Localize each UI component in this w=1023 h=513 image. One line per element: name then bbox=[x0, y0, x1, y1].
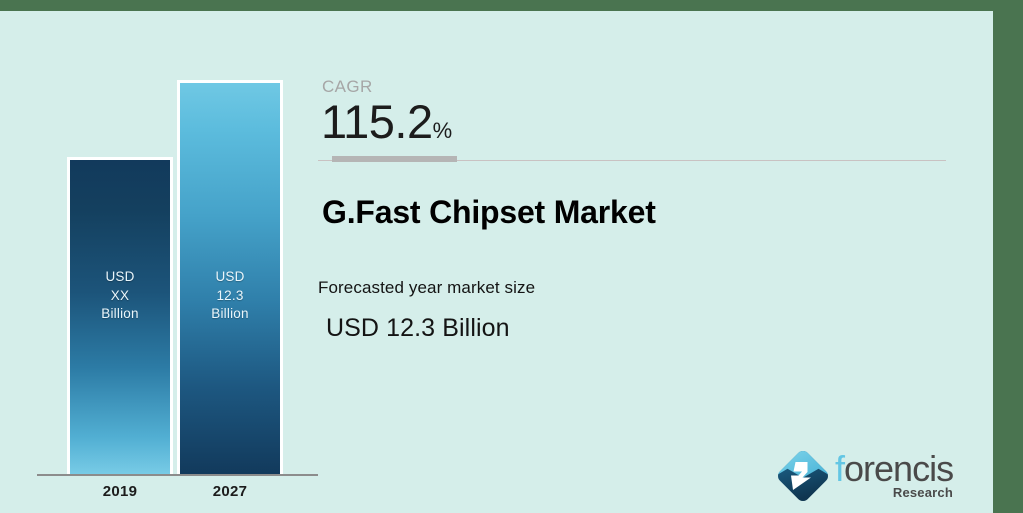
forencis-diamond-icon bbox=[777, 450, 829, 502]
x-axis-tick-2019: 2019 bbox=[67, 483, 173, 500]
x-axis-tick-2027: 2027 bbox=[177, 483, 283, 500]
section-divider bbox=[318, 155, 946, 163]
cagr-label: CAGR bbox=[322, 77, 373, 97]
logo-word: forencis bbox=[835, 451, 953, 487]
logo-subtitle: Research bbox=[835, 485, 953, 500]
bar-2019: USD XX Billion bbox=[67, 157, 173, 474]
cagr-percent-sign: % bbox=[433, 118, 453, 143]
bar-2019-label-line3: Billion bbox=[70, 305, 170, 324]
page-title: G.Fast Chipset Market bbox=[322, 194, 656, 231]
bar-2019-label-line1: USD bbox=[70, 268, 170, 287]
bar-2027-label-line3: Billion bbox=[180, 305, 280, 324]
bar-2019-value-label: USD XX Billion bbox=[70, 268, 170, 324]
bar-chart: USD XX Billion USD 12.3 Billion 2019 202… bbox=[0, 11, 320, 513]
cagr-number: 115.2 bbox=[321, 95, 433, 148]
forecast-value: USD 12.3 Billion bbox=[326, 314, 510, 343]
bar-2027-label-line1: USD bbox=[180, 268, 280, 287]
decorative-right-band bbox=[993, 0, 1023, 513]
decorative-top-band bbox=[0, 0, 1023, 11]
forecast-label: Forecasted year market size bbox=[318, 278, 535, 298]
logo-word-initial: f bbox=[835, 448, 844, 489]
summary-panel: CAGR 115.2% G.Fast Chipset Market Foreca… bbox=[318, 11, 993, 513]
x-axis-line bbox=[37, 474, 318, 476]
bar-2027-label-line2: 12.3 bbox=[180, 287, 280, 306]
infographic-canvas: USD XX Billion USD 12.3 Billion 2019 202… bbox=[0, 0, 1023, 513]
divider-accent-bar bbox=[332, 156, 457, 162]
logo-wordmark: forencis Research bbox=[835, 451, 953, 503]
logo-word-rest: orencis bbox=[844, 448, 953, 489]
cagr-value: 115.2% bbox=[321, 98, 452, 154]
bar-2027-value-label: USD 12.3 Billion bbox=[180, 268, 280, 324]
brand-logo: forencis Research bbox=[777, 445, 952, 507]
bar-2019-label-line2: XX bbox=[70, 287, 170, 306]
bar-2027: USD 12.3 Billion bbox=[177, 80, 283, 474]
